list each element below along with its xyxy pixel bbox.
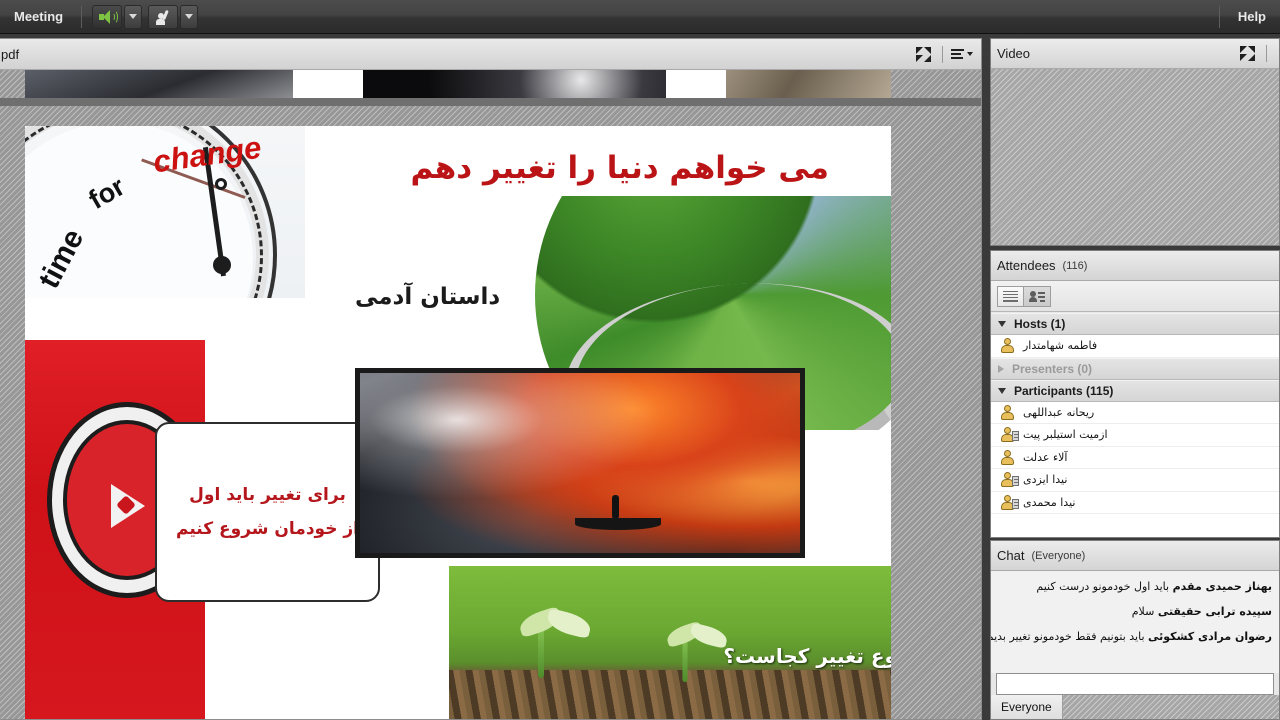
attendee-name: ریحانه عبداللهی xyxy=(1023,406,1094,419)
share-pod-body[interactable]: time for change می خواهم دنیا را تغییر د… xyxy=(0,70,981,719)
pod-menu-icon xyxy=(951,49,964,59)
list-view-icon xyxy=(1003,291,1018,302)
chat-pod-titlebar: Chat (Everyone) xyxy=(991,541,1279,571)
chat-scope-label: (Everyone) xyxy=(1031,550,1085,562)
share-pod: pdf xyxy=(0,38,982,720)
chat-pod: Chat (Everyone) بهناز حمیدی مقدم باید او… xyxy=(990,540,1280,720)
chat-tab-everyone[interactable]: Everyone xyxy=(991,695,1063,719)
chevron-down-icon xyxy=(998,321,1006,327)
quote-callout-box: برای تغییر باید اول از خودمان شروع کنیم xyxy=(155,422,380,602)
video-pod-title: Video xyxy=(997,46,1030,61)
current-slide: time for change می خواهم دنیا را تغییر د… xyxy=(25,126,891,719)
attendees-toolbar xyxy=(991,281,1279,312)
user-icon xyxy=(1001,450,1016,465)
attendee-row[interactable]: آلاء عدلت xyxy=(991,447,1279,470)
attendee-name: ازمیت استیلبر پیت xyxy=(1023,428,1108,441)
attendee-group-participants[interactable]: Participants (115) xyxy=(991,380,1279,402)
menu-item-help[interactable]: Help xyxy=(1224,0,1280,33)
chat-tab-bar: Everyone xyxy=(991,695,1279,719)
chat-text: باید اول خودمونو درست کنیم xyxy=(1036,580,1169,593)
share-pod-title: pdf xyxy=(0,47,19,62)
clock-time-for-change-image: time for change xyxy=(25,126,305,298)
chevron-down-icon xyxy=(129,14,137,19)
attendee-group-presenters[interactable]: Presenters (0) xyxy=(991,358,1279,380)
menubar-divider-right xyxy=(1219,6,1220,28)
chat-input-wrapper xyxy=(991,673,1279,695)
attendee-group-label: Hosts (1) xyxy=(1014,317,1065,331)
list-view-button[interactable] xyxy=(997,286,1024,307)
attendees-pod: Attendees (116) Hosts (1) xyxy=(990,250,1280,538)
attendee-row[interactable]: ازمیت استیلبر پیت xyxy=(991,424,1279,447)
attendee-name: نیدا ایزدی xyxy=(1023,473,1067,486)
speaker-icon xyxy=(99,10,116,24)
chat-message: سپیده ترابی حقیقتی سلام xyxy=(998,605,1272,618)
quote-line-2: از خودمان شروع کنیم xyxy=(176,519,359,539)
expand-icon xyxy=(916,47,931,62)
chat-message: بهناز حمیدی مقدم باید اول خودمونو درست ک… xyxy=(998,580,1272,593)
video-pod: Video xyxy=(990,38,1280,246)
card-view-button[interactable] xyxy=(1024,286,1051,307)
user-badge-icon xyxy=(1001,495,1016,510)
status-dropdown-button[interactable] xyxy=(180,5,198,29)
user-badge-icon xyxy=(1001,472,1016,487)
chevron-down-icon xyxy=(185,14,193,19)
attendee-row[interactable]: نیدا ایزدی xyxy=(991,469,1279,492)
document-stage: time for change می خواهم دنیا را تغییر د… xyxy=(0,70,981,719)
attendee-group-hosts[interactable]: Hosts (1) xyxy=(991,313,1279,335)
attendees-pod-titlebar: Attendees (116) xyxy=(991,251,1279,281)
attendee-group-label: Presenters (0) xyxy=(1012,362,1092,376)
chat-pod-title: Chat xyxy=(997,548,1024,563)
status-control-group xyxy=(148,5,198,29)
chat-sender: بهناز حمیدی مقدم xyxy=(1173,580,1272,593)
application-menubar: Meeting Help xyxy=(0,0,1280,34)
video-pod-toolbar-divider xyxy=(1266,45,1267,62)
video-pod-body[interactable] xyxy=(991,69,1279,245)
share-pod-expand-button[interactable] xyxy=(910,42,936,66)
audio-control-group xyxy=(92,5,142,29)
attendee-row[interactable]: نیدا محمدی xyxy=(991,492,1279,515)
host-user-icon xyxy=(1001,338,1016,353)
chat-text: سلام xyxy=(1132,605,1155,618)
quote-line-1: برای تغییر باید اول xyxy=(189,485,346,505)
expand-icon xyxy=(1240,46,1255,61)
attendees-list[interactable]: Hosts (1) فاطمه شهامتدار Presenters (0) … xyxy=(991,313,1279,537)
chat-message-list[interactable]: بهناز حمیدی مقدم باید اول خودمونو درست ک… xyxy=(991,571,1279,673)
right-pod-column: Video Attendees (116) xyxy=(990,38,1280,720)
chat-sender: سپیده ترابی حقیقتی xyxy=(1158,605,1272,618)
speaker-dropdown-button[interactable] xyxy=(124,5,142,29)
seedling-image: وع تغییر کجاست؟ xyxy=(449,566,891,719)
chat-input[interactable] xyxy=(996,673,1274,695)
attendee-row[interactable]: ریحانه عبداللهی xyxy=(991,402,1279,425)
chevron-down-icon xyxy=(998,388,1006,394)
chat-sender: رضوان مرادی کشکوئی xyxy=(1148,630,1272,643)
attendee-group-label: Participants (115) xyxy=(1014,384,1113,398)
raise-hand-icon xyxy=(155,9,171,25)
share-pod-titlebar: pdf xyxy=(0,39,981,70)
attendees-pod-title: Attendees xyxy=(997,258,1056,273)
chat-message: رضوان مرادی کشکوئی باید بتونیم فقط خودمو… xyxy=(998,630,1272,643)
user-badge-icon xyxy=(1001,427,1016,442)
slide-title: می خواهم دنیا را تغییر دهم xyxy=(411,150,830,186)
attendee-name: آلاء عدلت xyxy=(1023,451,1068,464)
speaker-toggle-button[interactable] xyxy=(92,5,122,29)
attendees-count: (116) xyxy=(1063,260,1088,272)
fire-surfer-image xyxy=(355,368,805,558)
share-pod-menu-button[interactable] xyxy=(949,42,975,66)
menu-item-meeting[interactable]: Meeting xyxy=(0,0,77,33)
seedling-caption: وع تغییر کجاست؟ xyxy=(723,644,891,668)
chat-text: باید بتونیم فقط خودمونو تغییر بدیم . xyxy=(991,630,1145,643)
chevron-down-icon xyxy=(967,52,973,56)
slide-subtitle: داستان آدمی xyxy=(355,284,500,310)
attendee-name: نیدا محمدی xyxy=(1023,496,1075,509)
attendee-row[interactable]: فاطمه شهامتدار xyxy=(991,335,1279,358)
menubar-right-group: Help xyxy=(1215,0,1280,33)
raise-hand-button[interactable] xyxy=(148,5,178,29)
share-pod-toolbar-divider xyxy=(942,46,943,63)
chat-tab-empty-area xyxy=(1063,695,1279,719)
video-pod-expand-button[interactable] xyxy=(1234,42,1260,66)
menubar-divider xyxy=(81,6,82,28)
attendee-name: فاطمه شهامتدار xyxy=(1023,339,1097,352)
user-icon xyxy=(1001,405,1016,420)
slide-gap-bar xyxy=(0,98,981,106)
previous-slide-strip xyxy=(25,70,891,98)
card-view-icon xyxy=(1030,291,1045,302)
chevron-right-icon xyxy=(998,365,1004,373)
video-pod-titlebar: Video xyxy=(991,39,1279,69)
